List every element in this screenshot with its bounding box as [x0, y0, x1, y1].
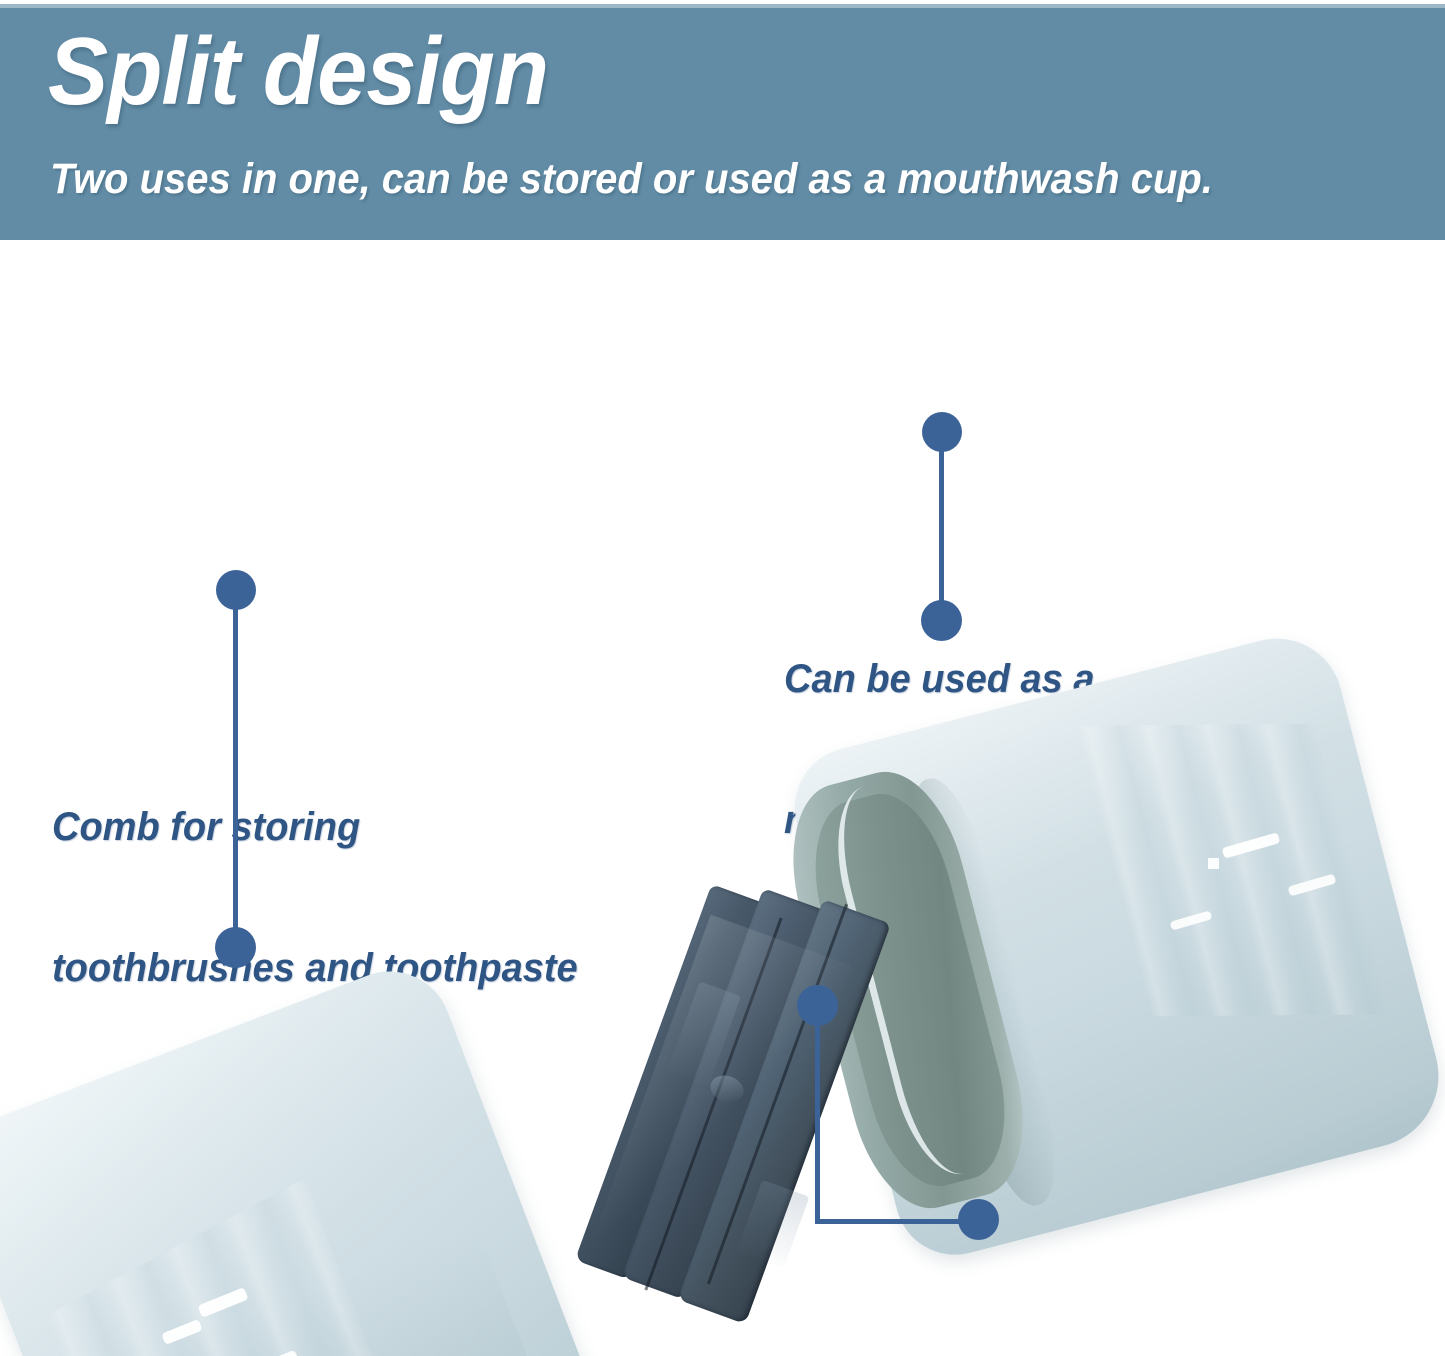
page-title: Split design: [48, 20, 548, 124]
callout-comb-line2: toothbrushes and toothpaste: [52, 945, 578, 992]
page-subtitle: Two uses in one, can be stored or used a…: [50, 154, 1213, 204]
product-mouthwash-cup: [818, 680, 1403, 1255]
callout-line-ring-horizontal: [815, 1219, 980, 1224]
product-comb-cup: [0, 1010, 590, 1356]
callout-line-comb: [233, 588, 238, 948]
callout-line-mouthwash: [939, 430, 944, 620]
callout-dot-ring-anchor: [797, 985, 838, 1026]
header-top-edge: [0, 4, 1445, 8]
cup-highlight-speck: [1208, 858, 1219, 869]
product-connection-ring: [560, 890, 900, 1320]
callout-dot-comb-top: [216, 570, 256, 610]
callout-dot-mouthwash-top: [922, 412, 962, 452]
callout-dot-ring-label: [958, 1199, 999, 1240]
infographic-page: Split design Two uses in one, can be sto…: [0, 0, 1445, 1356]
callout-comb-line1: Comb for storing: [52, 804, 578, 851]
callout-dot-mouthwash-anchor: [921, 600, 962, 641]
callout-dot-comb-anchor: [215, 927, 256, 968]
callout-line-ring-vertical: [815, 1004, 820, 1224]
product-photo-stage: Can be used as a mouthwash cup Comb for …: [0, 240, 1445, 1356]
header-banner: Split design Two uses in one, can be sto…: [0, 4, 1445, 240]
